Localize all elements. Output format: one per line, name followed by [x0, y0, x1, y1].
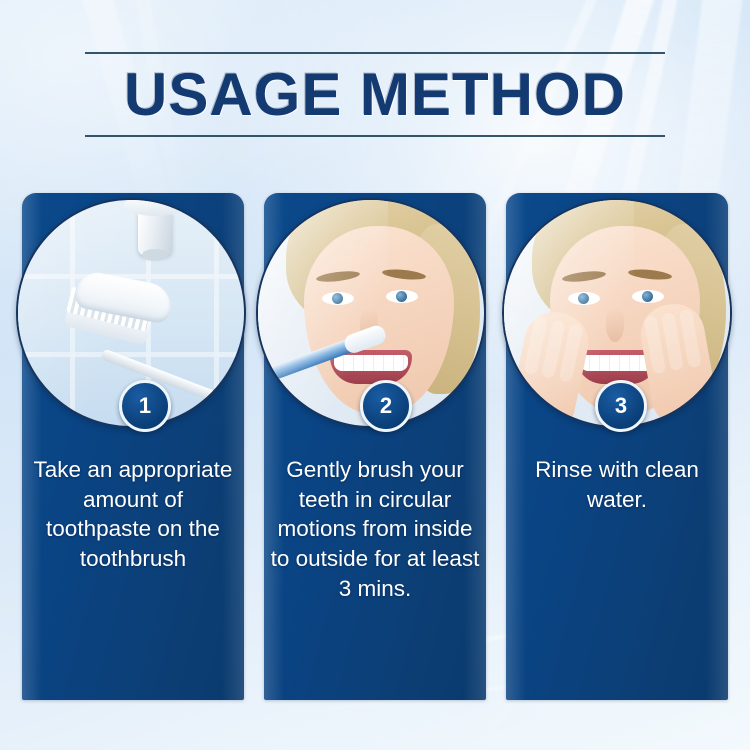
title-rule-top — [85, 52, 665, 54]
step-1-number: 1 — [139, 393, 151, 419]
step-3-number: 3 — [615, 393, 627, 419]
steps-container: 1 Take an appropriate amount of toothpas… — [0, 193, 750, 703]
title-rule-bottom — [85, 135, 665, 137]
step-3-caption: Rinse with clean water. — [506, 455, 728, 514]
usage-method-poster: USAGE METHOD — [0, 0, 750, 750]
step-3-number-badge: 3 — [595, 380, 647, 432]
step-1-number-badge: 1 — [119, 380, 171, 432]
step-1-caption: Take an appropriate amount of toothpaste… — [22, 455, 244, 574]
step-2-caption: Gently brush your teeth in circular moti… — [264, 455, 486, 603]
page-title: USAGE METHOD — [85, 60, 665, 131]
step-2-number-badge: 2 — [360, 380, 412, 432]
step-2-number: 2 — [380, 393, 392, 419]
title-block: USAGE METHOD — [85, 52, 665, 137]
